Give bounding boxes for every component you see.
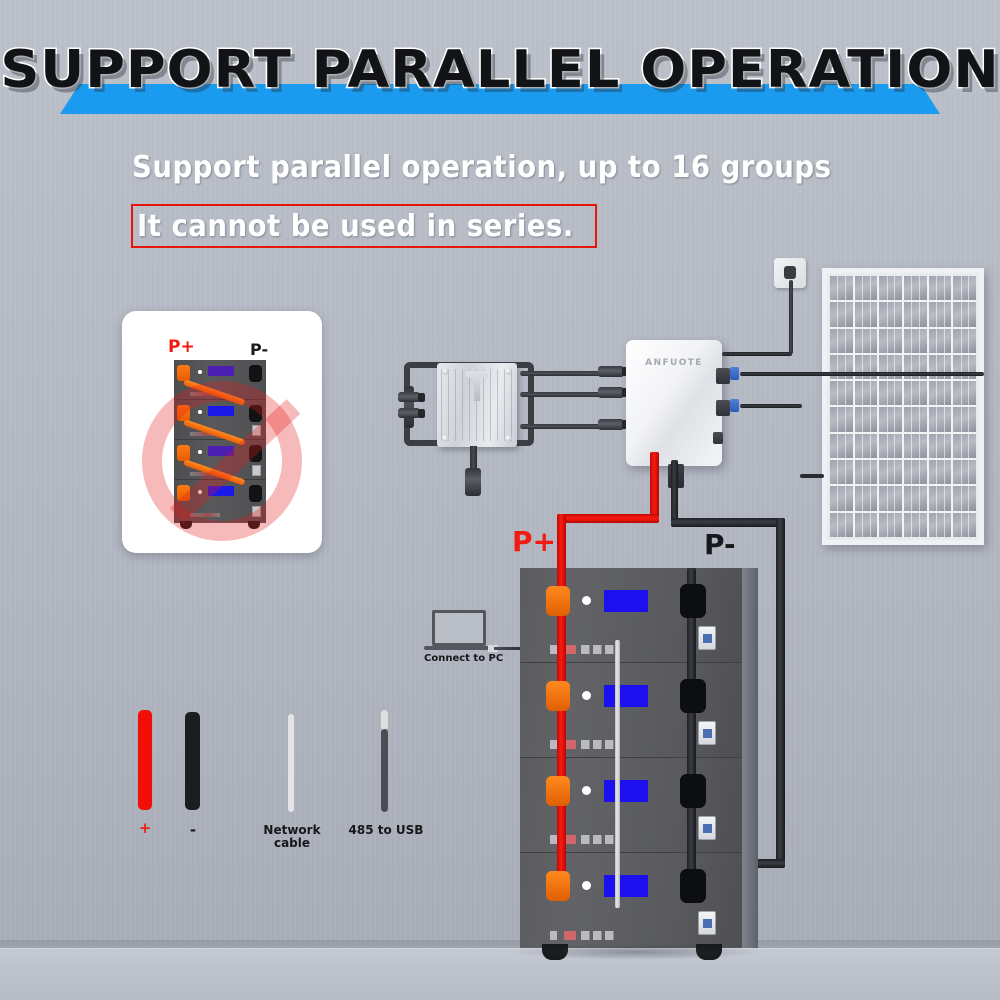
legend-label-network-line1: Network bbox=[263, 823, 320, 837]
screw-icon bbox=[442, 368, 449, 375]
cable-legend: + - Network cable 485 to USB bbox=[120, 700, 450, 850]
solar-panel-cell-grid bbox=[830, 276, 976, 537]
inverter-output-port bbox=[716, 400, 730, 416]
battery-led-indicator bbox=[582, 881, 591, 890]
battery-port-row bbox=[538, 835, 624, 844]
battery-positive-terminal-cap bbox=[546, 871, 570, 901]
inverter-to-panel-cable bbox=[740, 372, 984, 376]
page-title: SUPPORT PARALLEL OPERATION bbox=[0, 40, 1000, 100]
solar-cell bbox=[904, 513, 927, 537]
solar-panel-lead bbox=[800, 474, 824, 478]
solar-cell bbox=[879, 276, 902, 300]
solar-cell bbox=[830, 513, 853, 537]
solar-cell bbox=[855, 407, 878, 431]
legend-label-network-cable: Network cable bbox=[251, 824, 333, 850]
solar-cell bbox=[953, 329, 976, 353]
battery-lcd-display bbox=[604, 590, 648, 612]
solar-cell bbox=[904, 381, 927, 405]
solar-cell bbox=[929, 513, 952, 537]
solar-cell bbox=[855, 513, 878, 537]
mc4-connector bbox=[598, 366, 624, 377]
solar-cell bbox=[830, 381, 853, 405]
solar-cell bbox=[953, 276, 976, 300]
solar-cell bbox=[830, 460, 853, 484]
inverter-blue-connector bbox=[730, 399, 739, 412]
legend-swatch-485-usb-tip bbox=[381, 710, 388, 730]
legend-swatch-positive-cable bbox=[138, 710, 152, 810]
legend-label-network-line2: cable bbox=[274, 836, 310, 850]
socket-to-inverter-cable bbox=[722, 352, 792, 356]
solar-cell bbox=[855, 434, 878, 458]
negative-cable-segment bbox=[671, 460, 678, 522]
solar-cell bbox=[929, 407, 952, 431]
solar-panel bbox=[822, 268, 984, 545]
solar-cell bbox=[953, 434, 976, 458]
solar-cell bbox=[904, 302, 927, 326]
solar-cell bbox=[929, 302, 952, 326]
rack-side-panel bbox=[742, 568, 758, 948]
battery-negative-terminal-cap bbox=[680, 584, 706, 618]
solar-cell bbox=[855, 302, 878, 326]
battery-led-indicator bbox=[582, 596, 591, 605]
solar-cell bbox=[929, 381, 952, 405]
network-bus-cable bbox=[615, 640, 620, 908]
positive-bus-cable bbox=[557, 568, 566, 898]
solar-cell bbox=[929, 276, 952, 300]
battery-port-row bbox=[538, 645, 624, 654]
legend-swatch-network-cable bbox=[288, 714, 294, 812]
solar-cell bbox=[929, 329, 952, 353]
legend-swatch-485-to-usb-cable bbox=[381, 729, 388, 812]
battery-lcd-display bbox=[604, 780, 648, 802]
battery-positive-terminal-cap bbox=[546, 776, 570, 806]
solar-cell bbox=[855, 486, 878, 510]
positive-cable-segment bbox=[557, 514, 659, 523]
solar-cell bbox=[830, 302, 853, 326]
rack-ground-shadow bbox=[512, 944, 762, 960]
battery-lcd-display bbox=[604, 875, 648, 897]
solar-cell bbox=[830, 276, 853, 300]
solar-cell bbox=[953, 302, 976, 326]
hybrid-inverter[interactable]: ANFUOTE bbox=[626, 340, 722, 466]
solar-cell bbox=[953, 460, 976, 484]
card-negative-label: P- bbox=[250, 340, 268, 359]
battery-network-port[interactable] bbox=[698, 626, 716, 650]
solar-cell bbox=[830, 329, 853, 353]
solar-cell bbox=[879, 513, 902, 537]
battery-lcd-display bbox=[604, 685, 648, 707]
solar-cell bbox=[904, 407, 927, 431]
wall-socket-hole bbox=[784, 266, 796, 279]
solar-cell bbox=[879, 486, 902, 510]
laptop-base-icon bbox=[424, 646, 496, 650]
solar-cell bbox=[855, 329, 878, 353]
battery-positive-terminal-cap bbox=[546, 681, 570, 711]
socket-power-cable bbox=[789, 280, 793, 354]
legend-swatch-negative-cable bbox=[185, 712, 200, 810]
battery-port-row bbox=[538, 931, 624, 940]
inverter-output-port bbox=[716, 368, 730, 384]
main-negative-label: P- bbox=[704, 528, 736, 561]
card-led-indicator bbox=[198, 370, 202, 374]
solar-cell bbox=[904, 276, 927, 300]
solar-cell bbox=[855, 460, 878, 484]
solar-cell bbox=[830, 407, 853, 431]
solar-cell bbox=[904, 329, 927, 353]
battery-negative-terminal-cap bbox=[680, 679, 706, 713]
mc4-connector bbox=[598, 419, 624, 430]
battery-positive-terminal-cap bbox=[546, 586, 570, 616]
solar-cell bbox=[879, 302, 902, 326]
solar-cell bbox=[929, 434, 952, 458]
solar-cell bbox=[879, 434, 902, 458]
battery-network-port[interactable] bbox=[698, 721, 716, 745]
solar-cell bbox=[879, 460, 902, 484]
inverter-ac-cable bbox=[740, 404, 802, 408]
subtitle-line-1: Support parallel operation, up to 16 gro… bbox=[132, 150, 832, 185]
solar-cell bbox=[904, 486, 927, 510]
solar-cell bbox=[953, 381, 976, 405]
negative-cable-segment bbox=[776, 518, 785, 868]
legend-label-positive: + bbox=[134, 822, 156, 835]
inverter-brand-label: ANFUOTE bbox=[626, 358, 722, 368]
battery-network-port[interactable] bbox=[698, 816, 716, 840]
positive-cable-segment bbox=[650, 452, 659, 522]
battery-led-indicator bbox=[582, 786, 591, 795]
negative-cable-segment bbox=[671, 518, 785, 527]
solar-cell bbox=[953, 407, 976, 431]
solar-cell bbox=[879, 407, 902, 431]
subtitle-line-2: It cannot be used in series. bbox=[137, 209, 574, 244]
card-positive-label: P+ bbox=[168, 337, 195, 357]
solar-cell bbox=[929, 486, 952, 510]
connect-to-pc-label: Connect to PC bbox=[424, 653, 534, 664]
series-prohibited-card: P+ P- bbox=[122, 311, 322, 553]
mc4-connector bbox=[598, 387, 624, 398]
micro-inverter-body bbox=[437, 363, 517, 447]
battery-negative-terminal-cap bbox=[680, 774, 706, 808]
screw-icon bbox=[505, 368, 512, 375]
card-positive-terminal bbox=[177, 365, 190, 381]
mc4-connector bbox=[465, 468, 481, 496]
inverter-side-port bbox=[713, 432, 723, 444]
battery-port-row bbox=[538, 740, 624, 749]
card-negative-terminal bbox=[249, 365, 262, 382]
positive-cable-segment bbox=[557, 514, 566, 576]
solar-cell bbox=[855, 276, 878, 300]
solar-cell bbox=[830, 486, 853, 510]
mc4-connector bbox=[398, 392, 420, 402]
mc4-connector bbox=[398, 408, 420, 418]
legend-label-485-to-usb: 485 to USB bbox=[342, 824, 430, 837]
solar-cell bbox=[879, 381, 902, 405]
battery-led-indicator bbox=[582, 691, 591, 700]
screw-icon bbox=[442, 435, 449, 442]
battery-network-port[interactable] bbox=[698, 911, 716, 935]
laptop-icon bbox=[432, 610, 486, 646]
floor-surface bbox=[0, 948, 1000, 1000]
main-positive-label: P+ bbox=[512, 525, 556, 558]
screw-icon bbox=[505, 435, 512, 442]
solar-cell bbox=[830, 434, 853, 458]
solar-cell bbox=[879, 329, 902, 353]
solar-cell bbox=[904, 460, 927, 484]
legend-label-negative: - bbox=[182, 824, 204, 837]
solar-cell bbox=[953, 486, 976, 510]
battery-negative-terminal-cap bbox=[680, 869, 706, 903]
inverter-blue-connector bbox=[730, 367, 739, 380]
solar-cell bbox=[855, 381, 878, 405]
solar-cell bbox=[929, 460, 952, 484]
solar-cell bbox=[953, 513, 976, 537]
card-lcd-display bbox=[208, 366, 234, 376]
solar-cell bbox=[904, 434, 927, 458]
